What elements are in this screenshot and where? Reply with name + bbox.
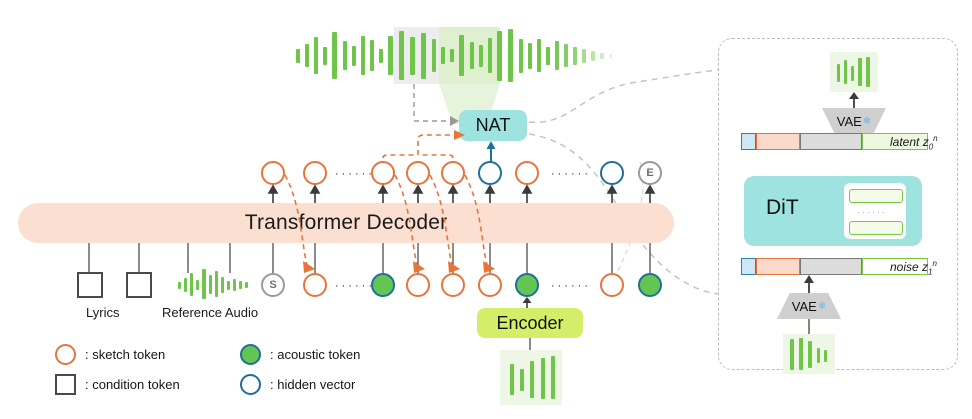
start-token[interactable]: S bbox=[261, 273, 285, 297]
condition-token-lyrics-2[interactable] bbox=[126, 272, 152, 298]
bottom-token-sketch-3[interactable] bbox=[441, 273, 465, 297]
legend-condition-label: : condition token bbox=[85, 377, 180, 392]
dit-block[interactable]: DiT ······ bbox=[744, 176, 922, 246]
latent-label-text: latent z bbox=[890, 135, 929, 149]
legend-item-acoustic-token: : acoustic token bbox=[240, 344, 360, 365]
bottom-row-ellipsis-1: ······ bbox=[335, 280, 375, 292]
bottom-token-acoustic-3[interactable] bbox=[638, 273, 662, 297]
legend-acoustic-label: : acoustic token bbox=[270, 347, 360, 362]
encoder-block[interactable]: Encoder bbox=[477, 308, 583, 338]
legend-hidden-icon bbox=[240, 374, 261, 395]
snowflake-icon-encoder: ❄ bbox=[818, 301, 826, 312]
sketch-feedback-dashed-arrows bbox=[255, 165, 555, 290]
bottom-token-sketch-5[interactable] bbox=[600, 273, 624, 297]
end-token[interactable]: E bbox=[638, 161, 662, 185]
reference-audio-waveform bbox=[178, 268, 254, 300]
bottom-token-sketch-1[interactable] bbox=[303, 273, 327, 297]
bottom-row-ellipsis-2: ······ bbox=[551, 280, 591, 292]
bottom-token-sketch-4[interactable] bbox=[478, 273, 502, 297]
legend-item-condition-token: : condition token bbox=[55, 374, 180, 395]
nat-to-panel-dashed-top bbox=[527, 60, 727, 135]
panel-output-spectrogram bbox=[830, 52, 878, 92]
top-token-hidden-2[interactable] bbox=[600, 161, 624, 185]
panel-input-spectrogram bbox=[783, 334, 835, 374]
latent-sup: n bbox=[933, 134, 937, 143]
noise-seg-blue bbox=[741, 258, 756, 275]
latent-seg-gray bbox=[800, 133, 862, 150]
noise-label-text: noise z bbox=[890, 260, 928, 274]
dit-label: DiT bbox=[766, 196, 799, 220]
spectrogram-to-vae-encoder-line bbox=[803, 319, 815, 335]
legend-hidden-label: : hidden vector bbox=[270, 377, 355, 392]
latent-label: latent z0n bbox=[890, 134, 938, 151]
latent-seg-orange bbox=[756, 133, 800, 150]
diagram-canvas: NAT ······ ······ E bbox=[0, 0, 972, 419]
noise-label: noise z1n bbox=[890, 259, 937, 276]
vae-encoder-label: VAE bbox=[792, 299, 817, 314]
dit-row-top bbox=[849, 189, 903, 203]
reference-audio-label: Reference Audio bbox=[162, 305, 258, 320]
dit-inner-card: ······ bbox=[844, 183, 906, 239]
legend-item-sketch-token: : sketch token bbox=[55, 344, 165, 365]
vae-decoder-label: VAE bbox=[837, 114, 862, 129]
noise-sub: 1 bbox=[928, 267, 932, 276]
latent-seg-blue bbox=[741, 133, 756, 150]
vae-decoder-output-arrow bbox=[846, 92, 862, 108]
top-row-ellipsis-2: ······ bbox=[551, 168, 591, 180]
snowflake-icon-decoder: ❄ bbox=[863, 116, 871, 127]
noise-sup: n bbox=[932, 259, 936, 268]
latent-sub: 0 bbox=[929, 142, 933, 151]
legend-item-hidden-vector: : hidden vector bbox=[240, 374, 355, 395]
encoder-label: Encoder bbox=[496, 313, 563, 334]
lyrics-label: Lyrics bbox=[86, 305, 119, 320]
noise-seg-gray bbox=[800, 258, 862, 275]
dit-inner-dots: ······ bbox=[857, 207, 887, 217]
legend-condition-icon bbox=[55, 374, 76, 395]
encoder-input-spectrogram bbox=[500, 350, 562, 405]
noise-seg-orange bbox=[756, 258, 800, 275]
bottom-token-sketch-2[interactable] bbox=[406, 273, 430, 297]
start-token-label: S bbox=[269, 279, 276, 291]
legend-sketch-icon bbox=[55, 344, 76, 365]
end-token-label: E bbox=[646, 167, 653, 179]
vae-encoder-output-arrow bbox=[801, 275, 817, 293]
legend-acoustic-icon bbox=[240, 344, 261, 365]
nat-label: NAT bbox=[476, 115, 511, 136]
legend-sketch-label: : sketch token bbox=[85, 347, 165, 362]
bottom-token-acoustic-1[interactable] bbox=[371, 273, 395, 297]
bottom-token-acoustic-2[interactable] bbox=[515, 273, 539, 297]
dit-row-bottom bbox=[849, 221, 903, 235]
condition-token-lyrics-1[interactable] bbox=[77, 272, 103, 298]
